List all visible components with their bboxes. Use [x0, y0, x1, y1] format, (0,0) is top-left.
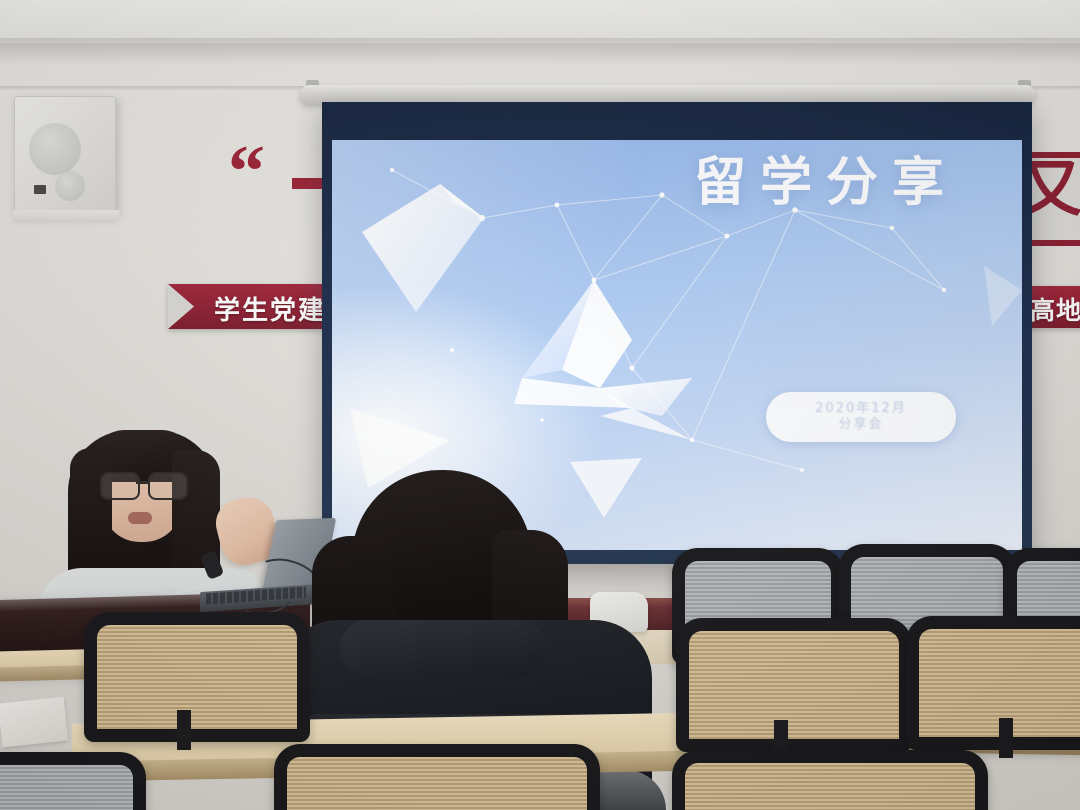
chair-foreground-right [672, 750, 962, 810]
speaker-tweeter-icon [55, 171, 85, 201]
slide-subtitle-pill: 2020年12月 分享会 [766, 392, 956, 442]
chair-front-center [676, 618, 886, 726]
glasses-lens-right [148, 472, 188, 500]
chair-backrest [672, 750, 988, 810]
chair-backrest [0, 752, 146, 810]
chair-post [999, 718, 1013, 758]
slide-pill-line-2: 分享会 [838, 417, 883, 433]
chair-backrest [84, 612, 310, 742]
chair-foreground-left [0, 752, 120, 810]
desk-item-papers [0, 697, 68, 748]
chair-foreground-center [274, 744, 574, 810]
chair-front-right [906, 616, 1080, 724]
quotation-mark-decal: “ [228, 150, 267, 194]
slide-title: 留学分享 [694, 140, 994, 215]
presenter-mouth [128, 512, 152, 524]
left-red-ribbon-banner: 学生党建 [168, 284, 343, 329]
wall-speaker-icon [14, 96, 116, 215]
presenter-glasses-icon [100, 472, 186, 496]
speaker-woofer-icon [29, 123, 81, 175]
slide-pill-line-1: 2020年12月 [815, 401, 907, 417]
speaker-badge [34, 185, 46, 194]
chair-backrest [676, 618, 912, 752]
chair-front-left [84, 612, 284, 716]
glasses-bridge [136, 481, 148, 484]
audience-jacket-collar [340, 620, 546, 676]
speaker-bottom-lip [13, 210, 120, 223]
wall-shadow [0, 43, 1080, 65]
chair-backrest [274, 744, 600, 810]
classroom-photo: “ 学生党建 又 板高地 [0, 0, 1080, 810]
chair-post [177, 710, 191, 750]
left-ribbon-label: 学生党建 [214, 290, 326, 327]
chair-backrest [906, 616, 1080, 750]
ceiling [0, 0, 1080, 42]
glasses-lens-left [100, 472, 140, 500]
